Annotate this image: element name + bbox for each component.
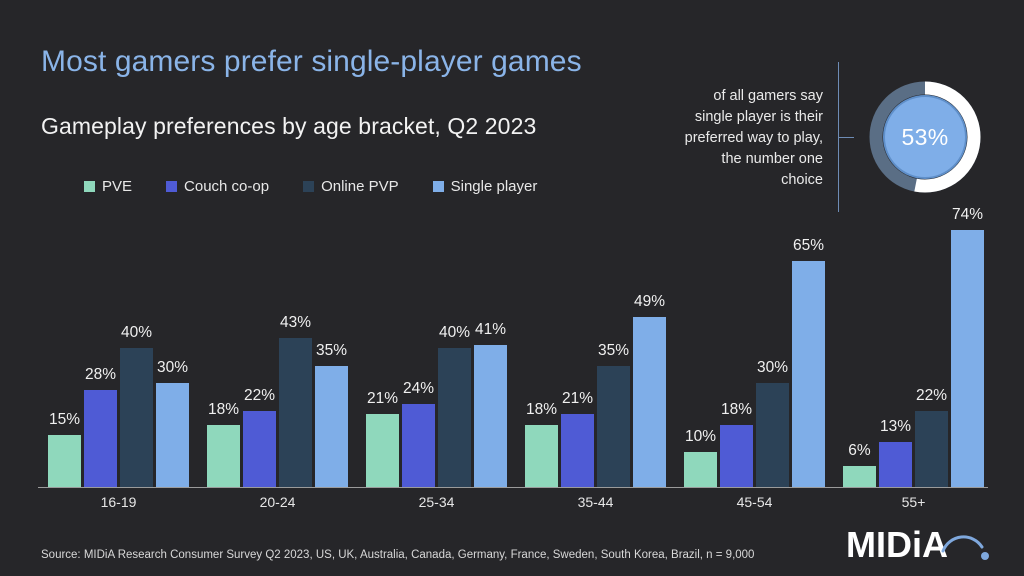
- legend-swatch-icon: [303, 181, 314, 192]
- bar-value-label: 35%: [591, 342, 637, 360]
- bar-group-25-34: 21%24%40%41%: [366, 0, 507, 576]
- bar-value-label: 22%: [909, 387, 955, 405]
- chart-legend: PVECouch co-opOnline PVPSingle player: [84, 178, 537, 195]
- legend-item-label: Online PVP: [321, 178, 399, 195]
- bar-35-44-online-pvp[interactable]: [597, 366, 630, 487]
- bar-value-label: 43%: [273, 314, 319, 332]
- bar-value-label: 21%: [360, 390, 406, 408]
- bar-20-24-pve[interactable]: [207, 425, 240, 487]
- x-axis-category-label: 35-44: [525, 494, 666, 510]
- bar-45-54-couch-co-op[interactable]: [720, 425, 753, 487]
- bar-value-label: 40%: [432, 324, 478, 342]
- bar-value-label: 65%: [786, 237, 832, 255]
- bar-value-label: 41%: [468, 321, 514, 339]
- legend-item-label: Single player: [451, 178, 538, 195]
- midia-logo: MIDiA: [846, 524, 994, 566]
- legend-item-couch-co-op[interactable]: Couch co-op: [166, 178, 269, 195]
- bar-value-label: 35%: [309, 342, 355, 360]
- x-axis-category-label: 55+: [843, 494, 984, 510]
- legend-swatch-icon: [433, 181, 444, 192]
- legend-item-single-player[interactable]: Single player: [433, 178, 538, 195]
- bar-16-19-online-pvp[interactable]: [120, 348, 153, 487]
- bar-55+-online-pvp[interactable]: [915, 411, 948, 487]
- page-subtitle: Gameplay preferences by age bracket, Q2 …: [41, 113, 536, 140]
- bar-16-19-couch-co-op[interactable]: [84, 390, 117, 487]
- bar-20-24-single-player[interactable]: [315, 366, 348, 487]
- bar-45-54-pve[interactable]: [684, 452, 717, 487]
- bar-20-24-couch-co-op[interactable]: [243, 411, 276, 487]
- bar-45-54-online-pvp[interactable]: [756, 383, 789, 487]
- x-axis-category-label: 20-24: [207, 494, 348, 510]
- bar-16-19-pve[interactable]: [48, 435, 81, 487]
- midia-logo-text: MIDiA: [846, 524, 948, 565]
- bar-value-label: 10%: [678, 428, 724, 446]
- callout-text: of all gamers say single player is their…: [653, 86, 823, 191]
- bar-value-label: 24%: [396, 380, 442, 398]
- bar-35-44-couch-co-op[interactable]: [561, 414, 594, 487]
- bar-value-label: 28%: [78, 366, 124, 384]
- callout-line-5: choice: [653, 170, 823, 191]
- bar-value-label: 18%: [519, 401, 565, 419]
- slide-canvas: Most gamers prefer single-player games G…: [0, 0, 1024, 576]
- donut-chart: 53%: [869, 81, 981, 193]
- bar-value-label: 15%: [42, 411, 88, 429]
- midia-logo-svg: MIDiA: [846, 524, 994, 566]
- bar-value-label: 49%: [627, 293, 673, 311]
- midia-logo-dot: [981, 552, 989, 560]
- bar-value-label: 30%: [150, 359, 196, 377]
- callout-line-4: the number one: [653, 149, 823, 170]
- bar-value-label: 6%: [837, 442, 883, 460]
- page-title: Most gamers prefer single-player games: [41, 45, 582, 79]
- bar-45-54-single-player[interactable]: [792, 261, 825, 487]
- bar-value-label: 18%: [201, 401, 247, 419]
- bar-value-label: 18%: [714, 401, 760, 419]
- callout-connector: [838, 137, 854, 138]
- callout-line-1: of all gamers say: [653, 86, 823, 107]
- bar-value-label: 21%: [555, 390, 601, 408]
- bar-group-20-24: 18%22%43%35%: [207, 0, 348, 576]
- source-note: Source: MIDiA Research Consumer Survey Q…: [41, 549, 754, 561]
- x-axis-category-label: 45-54: [684, 494, 825, 510]
- x-axis-category-label: 16-19: [48, 494, 189, 510]
- callout-line-3: preferred way to play,: [653, 128, 823, 149]
- midia-logo-arc: [943, 537, 982, 551]
- legend-item-online-pvp[interactable]: Online PVP: [303, 178, 399, 195]
- bar-16-19-single-player[interactable]: [156, 383, 189, 487]
- bar-20-24-online-pvp[interactable]: [279, 338, 312, 487]
- bar-55+-couch-co-op[interactable]: [879, 442, 912, 487]
- bar-35-44-pve[interactable]: [525, 425, 558, 487]
- x-axis-category-label: 25-34: [366, 494, 507, 510]
- callout-line-2: single player is their: [653, 107, 823, 128]
- bar-group-16-19: 15%28%40%30%: [48, 0, 189, 576]
- legend-swatch-icon: [166, 181, 177, 192]
- bar-group-35-44: 18%21%35%49%: [525, 0, 666, 576]
- legend-item-label: Couch co-op: [184, 178, 269, 195]
- bar-value-label: 74%: [945, 206, 991, 224]
- bar-value-label: 13%: [873, 418, 919, 436]
- bar-55+-pve[interactable]: [843, 466, 876, 487]
- bar-value-label: 40%: [114, 324, 160, 342]
- x-axis-line: [38, 487, 988, 488]
- bar-value-label: 22%: [237, 387, 283, 405]
- bar-value-label: 30%: [750, 359, 796, 377]
- legend-item-pve[interactable]: PVE: [84, 178, 132, 195]
- bar-35-44-single-player[interactable]: [633, 317, 666, 487]
- bar-25-34-online-pvp[interactable]: [438, 348, 471, 487]
- legend-swatch-icon: [84, 181, 95, 192]
- bar-25-34-single-player[interactable]: [474, 345, 507, 487]
- bar-25-34-couch-co-op[interactable]: [402, 404, 435, 487]
- bar-55+-single-player[interactable]: [951, 230, 984, 487]
- donut-value-label: 53%: [869, 81, 981, 193]
- legend-item-label: PVE: [102, 178, 132, 195]
- bar-25-34-pve[interactable]: [366, 414, 399, 487]
